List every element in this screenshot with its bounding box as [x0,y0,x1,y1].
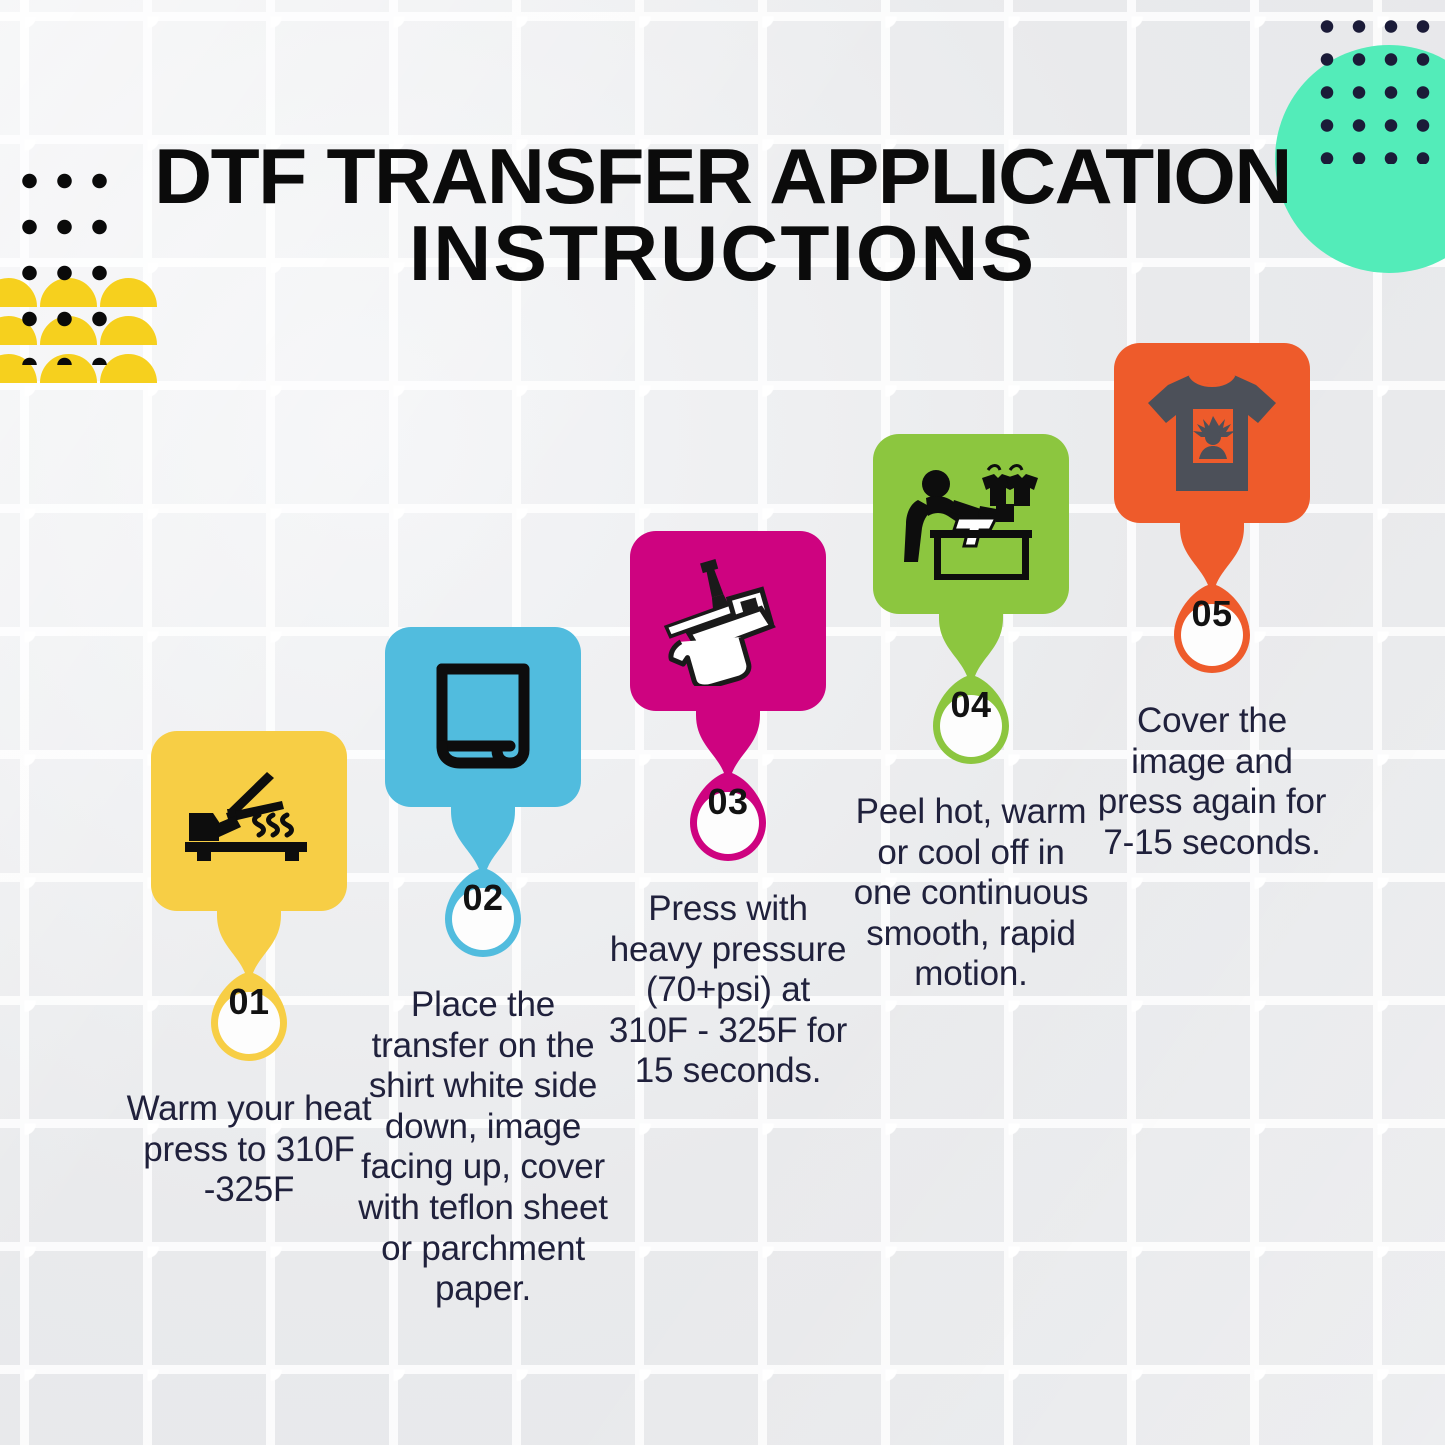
step-number-05: 05 [1132,593,1292,635]
title-line-2: INSTRUCTIONS [0,215,1445,292]
title-line-1: DTF TRANSFER APPLICATION [0,138,1445,215]
heat-press-open-icon [183,769,315,873]
peel-transfer-worker-icon [896,460,1046,588]
page-title: DTF TRANSFER APPLICATION INSTRUCTIONS [0,138,1445,292]
step-item-04: 04 Peel hot, warm or cool off in one con… [845,434,1097,995]
step-caption-03: Press with heavy pressure (70+psi) at 31… [602,889,854,1092]
step-icon-tile-05 [1114,343,1310,523]
step-connector-04: 04 [891,612,1051,782]
step-item-02: 02 Place the transfer on the shirt white… [357,627,609,1310]
transfer-sheet-icon [424,658,542,776]
infographic-poster: DTF TRANSFER APPLICATION INSTRUCTIONS [0,0,1445,1445]
step-caption-05: Cover the image and press again for 7-15… [1086,701,1338,863]
step-icon-tile-01 [151,731,347,911]
step-number-02: 02 [403,877,563,919]
step-number-03: 03 [648,781,808,823]
step-item-01: 01 Warm your heat press to 310F -325F [123,731,375,1211]
step-icon-tile-04 [873,434,1069,614]
step-icon-tile-02 [385,627,581,807]
step-number-01: 01 [169,981,329,1023]
step-caption-01: Warm your heat press to 310F -325F [123,1089,375,1211]
step-connector-03: 03 [648,709,808,879]
step-connector-02: 02 [403,805,563,975]
step-connector-01: 01 [169,909,329,1079]
step-caption-04: Peel hot, warm or cool off in one contin… [845,792,1097,995]
step-icon-tile-03 [630,531,826,711]
heat-press-pressing-icon [657,556,799,686]
step-number-04: 04 [891,684,1051,726]
step-item-03: 03 Press with heavy pressure (70+psi) at… [602,531,854,1092]
step-caption-02: Place the transfer on the shirt white si… [357,985,609,1310]
step-item-05: 05 Cover the image and press again for 7… [1086,343,1338,863]
printed-tshirt-icon [1142,369,1282,497]
step-connector-05: 05 [1132,521,1292,691]
